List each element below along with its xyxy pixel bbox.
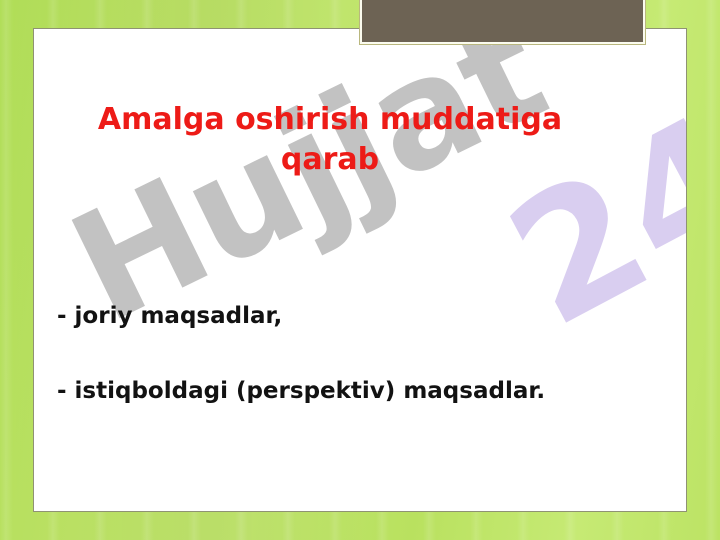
slide-title: Amalga oshirish muddatiga qarab: [60, 100, 600, 179]
top-banner-decoration: [360, 0, 645, 44]
presentation-slide: Hujjat 24 Amalga oshirish muddatiga qara…: [0, 0, 720, 540]
slide-text-layer: Amalga oshirish muddatiga qarab - joriy …: [0, 0, 720, 540]
bullet-item-2: - istiqboldagi (perspektiv) maqsadlar.: [57, 378, 545, 406]
bullet-item-1: - joriy maqsadlar,: [57, 303, 282, 331]
